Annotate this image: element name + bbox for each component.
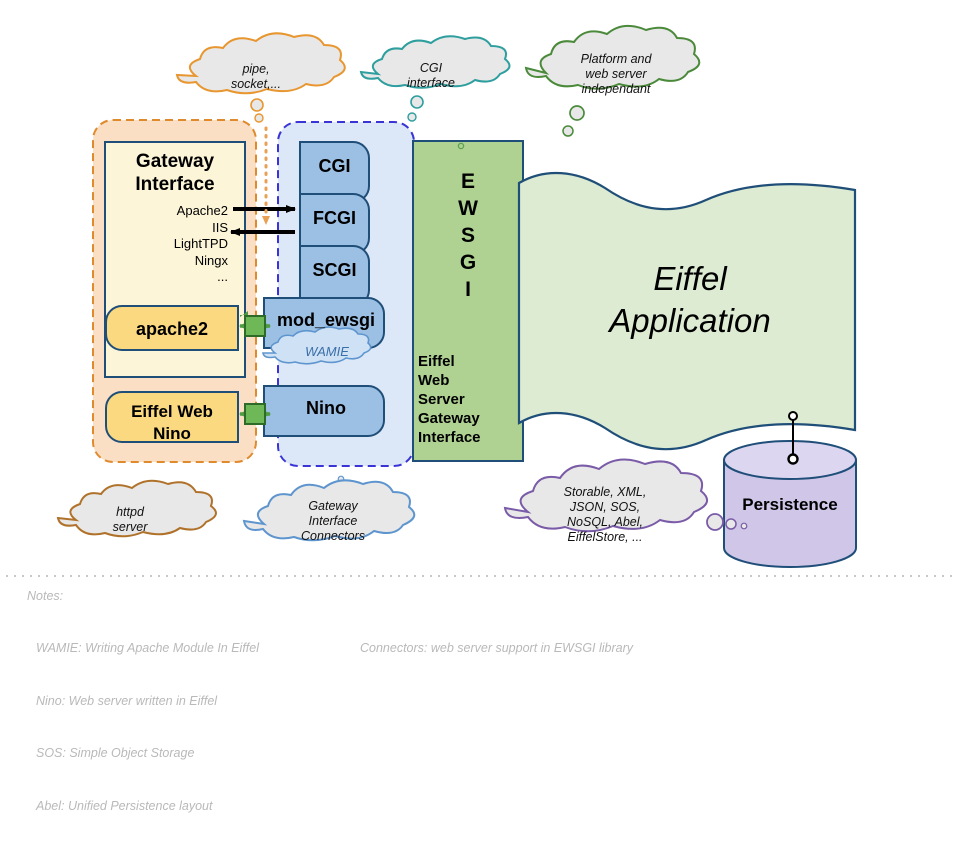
formats-line3: NoSQL, Abel, xyxy=(531,515,679,530)
application-persistence-link xyxy=(789,412,798,464)
eiffel-web-nino-chip-label[interactable]: Eiffel Web Nino xyxy=(106,401,238,445)
platform-independant-cloud-label: Platform and web server independant xyxy=(548,52,684,97)
persistence-formats-cloud-label: Storable, XML, JSON, SOS, NoSQL, Abel, E… xyxy=(531,485,679,545)
server-lighttpd: LightTPD xyxy=(115,236,228,253)
app-label-line2: Application xyxy=(540,300,840,342)
gateway-title-line1: Gateway xyxy=(105,150,245,173)
connectors-line2: Interface xyxy=(271,514,395,529)
fcgi-chip-label[interactable]: FCGI xyxy=(300,208,369,229)
ewsgi-word-gateway: Gateway xyxy=(418,409,518,428)
gateway-interface-title: Gateway Interface xyxy=(105,150,245,196)
httpd-line1: httpd xyxy=(75,505,185,520)
ewsgi-word-interface: Interface xyxy=(418,428,518,447)
httpd-server-cloud-label: httpd server xyxy=(75,505,185,535)
ewsgi-letter-s: S xyxy=(413,222,523,249)
server-ningx: Ningx xyxy=(115,253,228,270)
ewsgi-expansion: Eiffel Web Server Gateway Interface xyxy=(418,352,518,447)
platform-line2: web server xyxy=(548,67,684,82)
eiffel-web-nino-line2: Nino xyxy=(106,423,238,445)
formats-line1: Storable, XML, xyxy=(531,485,679,500)
ewsgi-letter-w: W xyxy=(413,195,523,222)
gateway-connectors-cloud-label: Gateway Interface Connectors xyxy=(271,499,395,544)
cgi-interface-line1: CGI xyxy=(381,61,481,76)
wamie-cloud-label: WAMIE xyxy=(277,344,377,359)
nino-chip-label[interactable]: Nino xyxy=(268,398,384,419)
ewsgi-word-server: Server xyxy=(418,390,518,409)
formats-line2: JSON, SOS, xyxy=(531,500,679,515)
platform-line1: Platform and xyxy=(548,52,684,67)
ewsgi-letter-e: E xyxy=(413,168,523,195)
cgi-interface-line2: interface xyxy=(381,76,481,91)
scgi-chip-label[interactable]: SCGI xyxy=(300,260,369,281)
ewsgi-word-web: Web xyxy=(418,371,518,390)
ewsgi-acronym: E W S G I xyxy=(413,168,523,303)
diagram-canvas: Gateway Interface Apache2 IIS LightTPD N… xyxy=(0,0,960,720)
eiffel-application-label: Eiffel Application xyxy=(540,258,840,342)
ewsgi-word-eiffel: Eiffel xyxy=(418,352,518,371)
note-nino: Nino: Web server written in Eiffel xyxy=(36,693,259,711)
note-connectors: Connectors: web server support in EWSGI … xyxy=(360,640,633,658)
cgi-chip-label[interactable]: CGI xyxy=(300,156,369,177)
cgi-interface-cloud-label: CGI interface xyxy=(381,61,481,91)
note-wamie: WAMIE: Writing Apache Module In Eiffel xyxy=(36,640,259,658)
httpd-line2: server xyxy=(75,520,185,535)
note-sos: SOS: Simple Object Storage xyxy=(36,745,259,763)
formats-line4: EiffelStore, ... xyxy=(531,530,679,545)
pipe-socket-line1: pipe, xyxy=(191,62,321,77)
app-label-line1: Eiffel xyxy=(540,258,840,300)
notes-heading: Notes: xyxy=(27,588,63,606)
gateway-server-list: Apache2 IIS LightTPD Ningx ... xyxy=(115,203,228,286)
eiffel-web-nino-line1: Eiffel Web xyxy=(106,401,238,423)
server-more: ... xyxy=(115,269,228,286)
persistence-label: Persistence xyxy=(724,495,856,515)
server-apache2: Apache2 xyxy=(115,203,228,220)
nino-eiffel-plug xyxy=(240,404,270,424)
apache2-chip-label[interactable]: apache2 xyxy=(106,319,238,340)
connectors-line1: Gateway xyxy=(271,499,395,514)
notes-left-column: WAMIE: Writing Apache Module In Eiffel N… xyxy=(36,605,259,850)
notes-right-column: Connectors: web server support in EWSGI … xyxy=(360,605,633,693)
pipe-socket-line2: socket,... xyxy=(191,77,321,92)
ewsgi-letter-g: G xyxy=(413,249,523,276)
gateway-title-line2: Interface xyxy=(105,173,245,196)
platform-line3: independant xyxy=(548,82,684,97)
pipe-socket-cloud-label: pipe, socket,... xyxy=(191,62,321,92)
mod-ewsgi-chip-label[interactable]: mod_ewsgi xyxy=(268,310,384,331)
ewsgi-letter-i: I xyxy=(413,276,523,303)
server-iis: IIS xyxy=(115,220,228,237)
connectors-line3: Connectors xyxy=(271,529,395,544)
note-abel: Abel: Unified Persistence layout xyxy=(36,798,259,816)
